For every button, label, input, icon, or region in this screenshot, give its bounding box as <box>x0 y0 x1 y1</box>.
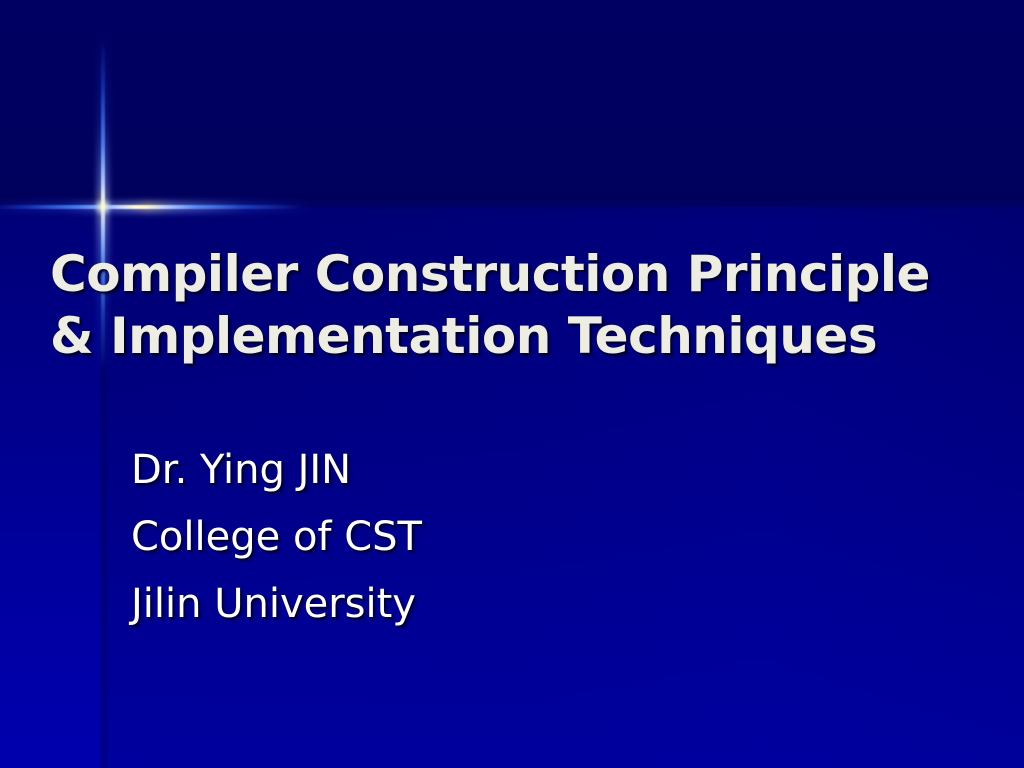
slide-title: Compiler Construction Principle & Implem… <box>50 243 990 367</box>
slide-title-line-1: Compiler Construction Principle <box>50 243 990 305</box>
slide-subtitle-line-department: College of CST <box>131 504 831 571</box>
slide-title-line-2: & Implementation Techniques <box>50 305 990 367</box>
slide-subtitle-line-presenter: Dr. Ying JIN <box>131 437 831 504</box>
slide-subtitle: Dr. Ying JIN College of CST Jilin Univer… <box>131 437 831 638</box>
slide-subtitle-line-institution: Jilin University <box>131 571 831 638</box>
slide-background-upper-band <box>0 0 1024 207</box>
title-slide: Compiler Construction Principle & Implem… <box>0 0 1024 768</box>
slide-background-horizontal-seam <box>0 199 1024 217</box>
